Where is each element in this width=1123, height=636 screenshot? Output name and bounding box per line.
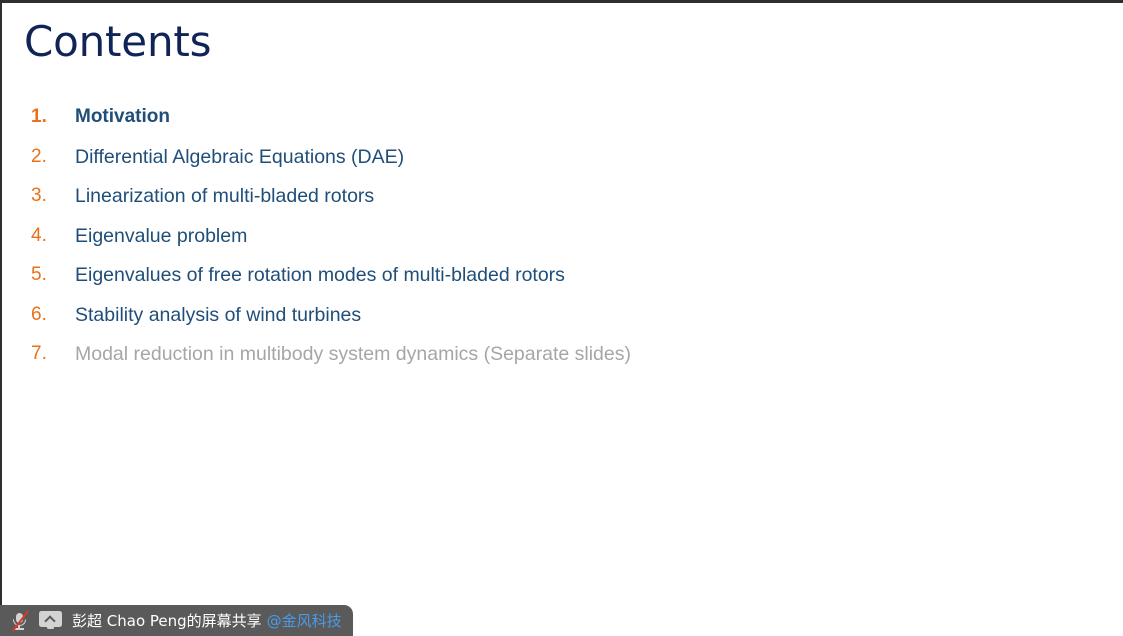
monitor-stand: [47, 627, 54, 629]
share-presenter-label: 彭超 Chao Peng的屏幕共享: [72, 612, 262, 630]
slide-top-border: [0, 0, 1123, 3]
list-item[interactable]: 7. Modal reduction in multibody system d…: [0, 343, 1060, 383]
contents-list: 1. Motivation 2. Differential Algebraic …: [0, 106, 1060, 383]
list-item-number: 4.: [31, 225, 65, 247]
screen-share-icon[interactable]: [39, 611, 62, 630]
list-item-label: Stability analysis of wind turbines: [75, 304, 361, 326]
list-item-number: 3.: [31, 185, 65, 207]
screen-share-status-bar[interactable]: 彭超 Chao Peng的屏幕共享 @金风科技: [0, 605, 353, 636]
list-item[interactable]: 6. Stability analysis of wind turbines: [0, 304, 1060, 344]
list-item-label: Modal reduction in multibody system dyna…: [75, 343, 631, 365]
share-company-tag: @金风科技: [267, 612, 342, 630]
list-item-number: 1.: [31, 106, 65, 128]
list-item-number: 6.: [31, 304, 65, 326]
presentation-slide: Contents 1. Motivation 2. Differential A…: [0, 0, 1123, 636]
list-item[interactable]: 1. Motivation: [0, 106, 1060, 146]
microphone-muted-icon[interactable]: [9, 610, 30, 632]
list-item-label: Eigenvalue problem: [75, 225, 247, 247]
list-item-label: Differential Algebraic Equations (DAE): [75, 146, 404, 168]
list-item-label: Motivation: [75, 106, 170, 128]
list-item[interactable]: 5. Eigenvalues of free rotation modes of…: [0, 264, 1060, 304]
list-item-number: 7.: [31, 343, 65, 365]
list-item-label: Eigenvalues of free rotation modes of mu…: [75, 264, 565, 286]
list-item-label: Linearization of multi-bladed rotors: [75, 185, 374, 207]
list-item[interactable]: 2. Differential Algebraic Equations (DAE…: [0, 146, 1060, 186]
list-item-number: 2.: [31, 146, 65, 168]
list-item[interactable]: 4. Eigenvalue problem: [0, 225, 1060, 265]
list-item-number: 5.: [31, 264, 65, 286]
list-item[interactable]: 3. Linearization of multi-bladed rotors: [0, 185, 1060, 225]
page-title: Contents: [24, 21, 211, 63]
